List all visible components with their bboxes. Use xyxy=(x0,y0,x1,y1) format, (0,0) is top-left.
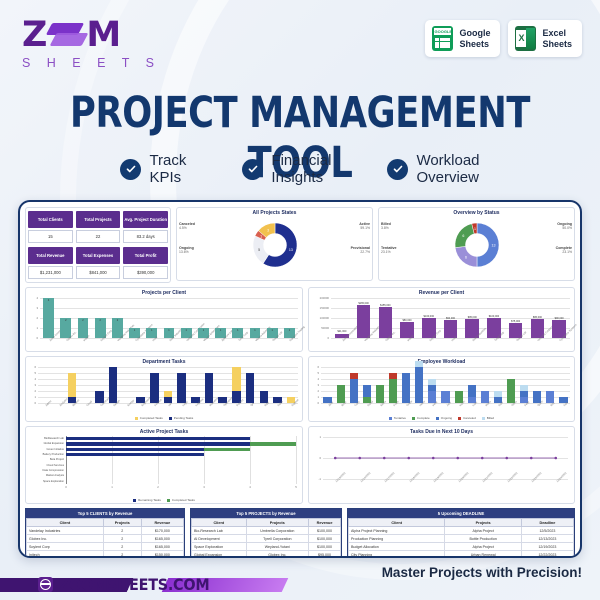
kpi-label: Total Clients xyxy=(28,211,73,228)
x-axis-tick: 4 xyxy=(247,485,253,489)
badge-line2: Sheets xyxy=(459,39,489,49)
x-axis-label: Cloud xyxy=(86,400,93,407)
dashboard-preview: Total Clients15Total Projects22Avg. Proj… xyxy=(18,200,582,558)
bar-segment xyxy=(428,385,436,391)
bar-data-label: $80,000 xyxy=(403,319,412,322)
table-cell: Umbrella Corporation xyxy=(246,527,309,535)
page-header: Z M S H E E T S GOOGLE Google Sheets xyxy=(0,0,600,82)
kpi-card: Avg. Project Duration83.2 days xyxy=(123,211,168,243)
chart-overview-by-status: Overview by Status 13661Billed3.8%Tentat… xyxy=(378,207,575,281)
y-axis-tick: 1 xyxy=(29,395,36,399)
kpi-value: $390,000 xyxy=(123,266,168,279)
brand-logo: Z M S H E E T S xyxy=(22,18,160,70)
bar-segment xyxy=(150,373,158,403)
bar-data-label: 2 xyxy=(117,319,118,322)
bar-segment xyxy=(520,385,528,391)
table-row: Space ExplorationWeyland-Yutani$100,000 xyxy=(192,543,341,551)
bar-segment xyxy=(520,391,528,397)
donut-slice-label: Complete23.1% xyxy=(556,246,572,254)
table-column-header: Revenue xyxy=(141,519,183,527)
donut-slice-label: Ongoing13.6% xyxy=(179,246,194,254)
bar-data-label: 1 xyxy=(289,329,290,332)
bar-data-label: $95,000 xyxy=(533,316,542,319)
bar-data-label: $165,000 xyxy=(358,302,368,305)
table-cell: City Planning xyxy=(349,551,445,558)
legend-item: Pending Tasks xyxy=(169,416,193,420)
chart-legend: Remaining TasksCompleted Tasks xyxy=(26,498,302,502)
kpi-label: Total Expenses xyxy=(76,247,121,264)
donut-slice-label: Provisional22.7% xyxy=(351,246,370,254)
y-axis-tick: 4 xyxy=(29,377,36,381)
table-column-header: Client xyxy=(192,519,247,527)
svg-text:1: 1 xyxy=(474,227,476,231)
legend-item: Remaining Tasks xyxy=(133,498,161,502)
footer-website-label: ZOOMSHEETS.COM xyxy=(59,575,209,594)
kpi-value: 15 xyxy=(28,230,73,243)
kpi-value: 22 xyxy=(76,230,121,243)
table-column-header: Revenue xyxy=(309,519,341,527)
svg-text:6: 6 xyxy=(465,256,467,260)
bar-segment xyxy=(350,379,358,403)
y-axis-tick: 50000 xyxy=(313,326,329,330)
y-axis-tick: 0 xyxy=(29,401,36,405)
feature-item-financial-insights: Financial Insights xyxy=(242,152,331,186)
y-axis-label: Green Initiative xyxy=(28,448,64,451)
bar-segment xyxy=(494,391,502,397)
kpi-label: Avg. Project Duration xyxy=(123,211,168,228)
badge-line1: Google xyxy=(459,28,490,38)
y-axis-tick: 3 xyxy=(29,383,36,387)
table-row: Bio-Research LabUmbrella Corporation$100… xyxy=(192,527,341,535)
x-axis-tick: 3 xyxy=(201,485,207,489)
footer-tagline: Master Projects with Precision! xyxy=(382,565,582,580)
table-row: City PlanningUrban Renewal12/22/2023 xyxy=(349,551,574,558)
logo-letter-z: Z xyxy=(22,20,46,50)
bar-segment xyxy=(246,373,254,403)
table-row: Production PlanningBottle Production12/1… xyxy=(349,535,574,543)
donut-slice-label: Billed3.8% xyxy=(381,222,391,230)
x-axis-label: Analytics xyxy=(59,397,68,406)
chart-title: Employee Workload xyxy=(309,357,574,365)
table-cell: Urban Renewal xyxy=(445,551,522,558)
badge-line1: Excel xyxy=(542,28,566,38)
feature-line1: Track xyxy=(149,152,186,169)
bar-data-label: $90,000 xyxy=(446,317,455,320)
x-axis-label: Admin xyxy=(45,399,52,406)
y-axis-tick: 100000 xyxy=(313,316,329,320)
x-axis-tick: 5 xyxy=(293,485,299,489)
table-title: 5 Upcoming DEADLINE xyxy=(348,509,574,518)
bar-segment xyxy=(177,373,185,403)
kpi-label: Total Profit xyxy=(123,247,168,264)
badge-line2: Sheets xyxy=(542,39,572,49)
table-cell: Vandelay Industries xyxy=(27,527,104,535)
bar-data-label: $90,000 xyxy=(555,317,564,320)
table-cell: $165,000 xyxy=(141,543,183,551)
y-axis-tick: 3 xyxy=(30,306,38,310)
bar-segment xyxy=(350,373,358,379)
table-row: Alpha Project PlanningAlpha Project12/5/… xyxy=(349,527,574,535)
donut-chart: 13513 xyxy=(250,220,300,270)
feature-line2: KPIs xyxy=(149,169,181,186)
chart-tasks-due: Tasks Due in Next 10 Days -10112/15/2023… xyxy=(308,426,575,504)
svg-text:6: 6 xyxy=(462,234,464,238)
chart-revenue-per-client: Revenue per Client 050000100000150000200… xyxy=(308,287,575,352)
table-column-header: Client xyxy=(349,519,445,527)
bar-segment xyxy=(205,373,213,403)
kpi-label: Total Revenue xyxy=(28,247,73,264)
table-cell: $165,000 xyxy=(141,535,183,543)
table-cell: $100,000 xyxy=(309,527,341,535)
svg-text:1: 1 xyxy=(260,234,262,238)
bar-data-label: 1 xyxy=(271,329,272,332)
table-cell: 12/13/2023 xyxy=(521,535,573,543)
table-cell: 12/5/2023 xyxy=(521,527,573,535)
excel-icon: X xyxy=(515,26,536,51)
table-top-projects-by-revenue: Top 5 PROJECTS by RevenueClientProjectsR… xyxy=(190,508,342,558)
donut-slice-label: Active59.1% xyxy=(359,222,370,230)
kpi-card: Total Revenue$1,231,000 xyxy=(28,247,73,279)
kpi-card: Total Projects22 xyxy=(76,211,121,243)
bar-segment xyxy=(337,385,345,403)
table-cell: Initech xyxy=(27,551,104,558)
chart-title: All Projects States xyxy=(177,208,372,216)
y-axis-tick: 0 xyxy=(30,336,38,340)
table-cell: Globex Inc. xyxy=(27,535,104,543)
table-column-header: Projects xyxy=(103,519,141,527)
svg-text:3: 3 xyxy=(267,228,269,232)
table-row: Vandelay Industries2$170,000 xyxy=(27,527,184,535)
y-axis-tick: 1 xyxy=(30,326,38,330)
feature-item-workload-overview: Workload Overview xyxy=(387,152,479,186)
y-axis-tick: 150000 xyxy=(313,306,329,310)
svg-text:13: 13 xyxy=(491,243,495,247)
table-cell: 2 xyxy=(103,543,141,551)
google-sheets-icon: GOOGLE xyxy=(432,26,453,51)
y-axis-label: Beta Project xyxy=(28,458,64,461)
y-axis-tick: 1 xyxy=(314,435,321,439)
bar xyxy=(357,305,370,338)
feature-line1: Financial xyxy=(271,152,331,169)
bar-segment xyxy=(468,385,476,397)
bar-data-label: 1 xyxy=(254,329,255,332)
bar-data-label: 2 xyxy=(82,319,83,322)
bar-segment xyxy=(68,373,76,397)
bar-segment xyxy=(415,361,423,367)
table-row: Initech2$150,000 xyxy=(27,551,184,558)
y-axis-tick: 200000 xyxy=(313,296,329,300)
bar-segment xyxy=(507,379,515,403)
kpi-card: Total Expenses$841,000 xyxy=(76,247,121,279)
bar-segment xyxy=(109,367,117,403)
table-cell: $170,000 xyxy=(141,527,183,535)
badge-google-sheets-label: Google Sheets xyxy=(459,28,490,50)
y-axis-tick: -1 xyxy=(314,477,321,481)
chart-all-projects-states: All Projects States 13513Canceled4.5%Ong… xyxy=(176,207,373,281)
bar-data-label: 1 xyxy=(168,329,169,332)
x-axis-label: Rita xyxy=(550,401,555,406)
bar-data-label: $75,000 xyxy=(511,320,520,323)
bar xyxy=(43,298,54,338)
table-cell: 2 xyxy=(103,551,141,558)
infographic-page: Z M S H E E T S GOOGLE Google Sheets xyxy=(0,0,600,600)
bar-data-label: 1 xyxy=(220,329,221,332)
feature-list: Track KPIs Financial Insights Workload O… xyxy=(0,152,600,186)
feature-line2: Overview xyxy=(416,169,479,186)
table-cell: Tyrell Corporation xyxy=(246,535,309,543)
bar-segment xyxy=(66,437,250,440)
legend-item: Complete xyxy=(412,416,430,420)
table-cell: Alpha Project xyxy=(445,527,522,535)
svg-text:5: 5 xyxy=(258,248,260,252)
y-axis-label: BioResearch Lab xyxy=(28,437,64,440)
table-cell: Globex Inc. xyxy=(246,551,309,558)
bar-data-label: 1 xyxy=(185,329,186,332)
chart-projects-per-client: Projects per Client 012344Acme Corporati… xyxy=(25,287,303,352)
y-axis-tick: 2 xyxy=(29,389,36,393)
check-circle-icon xyxy=(120,159,141,180)
table-cell: Production Planning xyxy=(349,535,445,543)
bar-data-label: 2 xyxy=(99,319,100,322)
table-column-header: Projects xyxy=(246,519,309,527)
x-axis-label: HR xyxy=(168,402,173,407)
kpi-value: 83.2 days xyxy=(123,230,168,243)
table-cell: 2 xyxy=(103,535,141,543)
bar-segment xyxy=(66,442,250,445)
legend-item: Billed xyxy=(482,416,494,420)
check-circle-icon xyxy=(387,159,408,180)
y-axis-tick: 5 xyxy=(29,371,36,375)
bar-data-label: $100,000 xyxy=(424,315,434,318)
chart-legend: TentativeCompleteOngoingCanceledBilled xyxy=(309,416,574,420)
table-column-header: Deadline xyxy=(521,519,573,527)
table-upcoming-deadlines: 5 Upcoming DEADLINEClientProjectsDeadlin… xyxy=(347,508,575,558)
x-axis-tick: 2 xyxy=(155,485,161,489)
table-cell: $100,000 xyxy=(309,535,341,543)
logo-parallelogram-icon xyxy=(47,23,87,48)
bar-segment xyxy=(232,367,240,391)
chart-title: Active Project Tasks xyxy=(26,427,302,435)
y-axis-tick: 5 xyxy=(312,371,319,375)
donut-chart: 13661 xyxy=(452,220,502,270)
table-column-header: Client xyxy=(27,519,104,527)
donut-slice-label: Canceled4.5% xyxy=(179,222,195,230)
bar-segment xyxy=(66,448,204,451)
table-title: Top 5 PROJECTS by Revenue xyxy=(191,509,341,518)
chart-title: Department Tasks xyxy=(26,357,302,365)
bar-segment xyxy=(363,385,371,397)
bar-data-label: $100,000 xyxy=(489,315,499,318)
table-cell: Bio-Research Lab xyxy=(192,527,247,535)
y-axis-tick: 4 xyxy=(312,377,319,381)
y-axis-tick: 0 xyxy=(313,336,329,340)
y-axis-label: Global Expansion xyxy=(28,442,64,445)
page-footer: ZOOMSHEETS.COM Master Projects with Prec… xyxy=(0,558,600,600)
bar-data-label: $155,000 xyxy=(380,304,390,307)
y-axis-label: Market Analysis xyxy=(28,474,64,477)
table-row: AI DevelopmentTyrell Corporation$100,000 xyxy=(192,535,341,543)
table-cell: Global Expansion xyxy=(192,551,247,558)
check-circle-icon xyxy=(242,159,263,180)
table-row: Global ExpansionGlobex Inc.$95,000 xyxy=(192,551,341,558)
table-cell: Alpha Project Planning xyxy=(349,527,445,535)
donut-slice-label: Ongoing50.0% xyxy=(557,222,572,230)
table-cell: Soylent Corp xyxy=(27,543,104,551)
chart-title: Overview by Status xyxy=(379,208,574,216)
svg-text:13: 13 xyxy=(288,248,292,252)
legend-item: Canceled xyxy=(458,416,476,420)
y-axis-tick: 4 xyxy=(30,296,38,300)
chart-legend: Completed TasksPending Tasks xyxy=(26,416,302,420)
table-cell: $100,000 xyxy=(309,543,341,551)
chart-title: Revenue per Client xyxy=(309,288,574,296)
badge-excel-sheets[interactable]: X Excel Sheets xyxy=(508,20,582,57)
bar-data-label: 1 xyxy=(151,329,152,332)
feature-item-track-kpis: Track KPIs xyxy=(120,152,186,186)
bar-segment xyxy=(204,448,250,451)
chart-title: Projects per Client xyxy=(26,288,302,296)
y-axis-tick: 2 xyxy=(312,389,319,393)
bar-segment xyxy=(164,391,172,397)
feature-label: Financial Insights xyxy=(271,152,331,186)
bar-segment xyxy=(389,379,397,403)
feature-line1: Workload xyxy=(416,152,479,169)
legend-item: Tentative xyxy=(389,416,406,420)
y-axis-tick: 2 xyxy=(30,316,38,320)
legend-item: Ongoing xyxy=(436,416,452,420)
badge-google-sheets[interactable]: GOOGLE Google Sheets xyxy=(425,20,500,57)
y-axis-tick: 1 xyxy=(312,395,319,399)
table-cell: 12/19/2023 xyxy=(521,543,573,551)
bar-segment xyxy=(428,379,436,385)
table-title: Top 5 CLIENTS by Revenue xyxy=(26,509,184,518)
table-cell: AI Development xyxy=(192,535,247,543)
bar-segment xyxy=(66,453,204,456)
logo-letter-m: M xyxy=(86,20,121,50)
feature-label: Workload Overview xyxy=(416,152,479,186)
y-axis-label: Battery Production xyxy=(28,453,64,456)
bar-segment xyxy=(402,373,410,403)
chart-employee-workload: Employee Workload 0123456AliceBrianCarla… xyxy=(308,356,575,422)
legend-item: Completed Tasks xyxy=(135,416,163,420)
legend-item: Completed Tasks xyxy=(167,498,195,502)
table-cell: $150,000 xyxy=(141,551,183,558)
chart-active-project-tasks: Active Project Tasks 012345BioResearch L… xyxy=(25,426,303,504)
table-cell: 2 xyxy=(103,527,141,535)
platform-badges: GOOGLE Google Sheets X Excel Sheets xyxy=(425,20,582,57)
kpi-card: Total Profit$390,000 xyxy=(123,247,168,279)
bar-data-label: $95,000 xyxy=(468,316,477,319)
y-axis-tick: 0 xyxy=(314,456,321,460)
chart-department-tasks: Department Tasks 0123456AdminAnalyticsBi… xyxy=(25,356,303,422)
logo-subtitle: S H E E T S xyxy=(22,56,160,70)
kpi-label: Total Projects xyxy=(76,211,121,228)
table-row: Budget AllocationAlpha Project12/19/2023 xyxy=(349,543,574,551)
y-axis-label: Space Exploration xyxy=(28,480,64,483)
y-axis-tick: 3 xyxy=(312,383,319,387)
feature-label: Track KPIs xyxy=(149,152,186,186)
donut-slice-label: Tentative23.1% xyxy=(381,246,397,254)
y-axis-tick: 6 xyxy=(29,365,36,369)
bar-data-label: 1 xyxy=(237,329,238,332)
y-axis-label: Data Compression xyxy=(28,469,64,472)
y-axis-tick: 0 xyxy=(312,401,319,405)
badge-excel-label: Excel Sheets xyxy=(542,28,572,50)
kpi-value: $841,000 xyxy=(76,266,121,279)
table-cell: Bottle Production xyxy=(445,535,522,543)
table-top-clients-by-revenue: Top 5 CLIENTS by RevenueClientProjectsRe… xyxy=(25,508,185,558)
table-cell: Budget Allocation xyxy=(349,543,445,551)
table-cell: 12/22/2023 xyxy=(521,551,573,558)
bar-segment xyxy=(389,373,397,379)
kpi-value: $1,231,000 xyxy=(28,266,73,279)
bar-segment xyxy=(250,442,296,445)
bar-data-label: $21,000 xyxy=(337,330,346,333)
kpi-cards: Total Clients15Total Projects22Avg. Proj… xyxy=(25,207,171,283)
x-axis-label: QA xyxy=(250,402,255,407)
table-cell: Alpha Project xyxy=(445,543,522,551)
footer-website[interactable]: ZOOMSHEETS.COM xyxy=(38,576,226,592)
table-row: Globex Inc.2$165,000 xyxy=(27,535,184,543)
table-column-header: Projects xyxy=(445,519,522,527)
bar-data-label: 1 xyxy=(203,329,204,332)
table-cell: Space Exploration xyxy=(192,543,247,551)
bar-data-label: 4 xyxy=(48,299,49,302)
feature-line2: Insights xyxy=(271,169,323,186)
kpi-card: Total Clients15 xyxy=(28,211,73,243)
bar-data-label: 1 xyxy=(134,329,135,332)
table-row: Soylent Corp2$165,000 xyxy=(27,543,184,551)
line-series xyxy=(323,437,568,479)
y-axis-tick: 6 xyxy=(312,365,319,369)
table-cell: $95,000 xyxy=(309,551,341,558)
table-cell: Weyland-Yutani xyxy=(246,543,309,551)
bar-segment xyxy=(415,367,423,403)
bar-data-label: 2 xyxy=(65,319,66,322)
globe-icon xyxy=(38,577,53,592)
y-axis-label: Cloud Services xyxy=(28,464,64,467)
chart-title: Tasks Due in Next 10 Days xyxy=(309,427,574,435)
x-axis-tick: 0 xyxy=(63,485,69,489)
x-axis-tick: 1 xyxy=(109,485,115,489)
